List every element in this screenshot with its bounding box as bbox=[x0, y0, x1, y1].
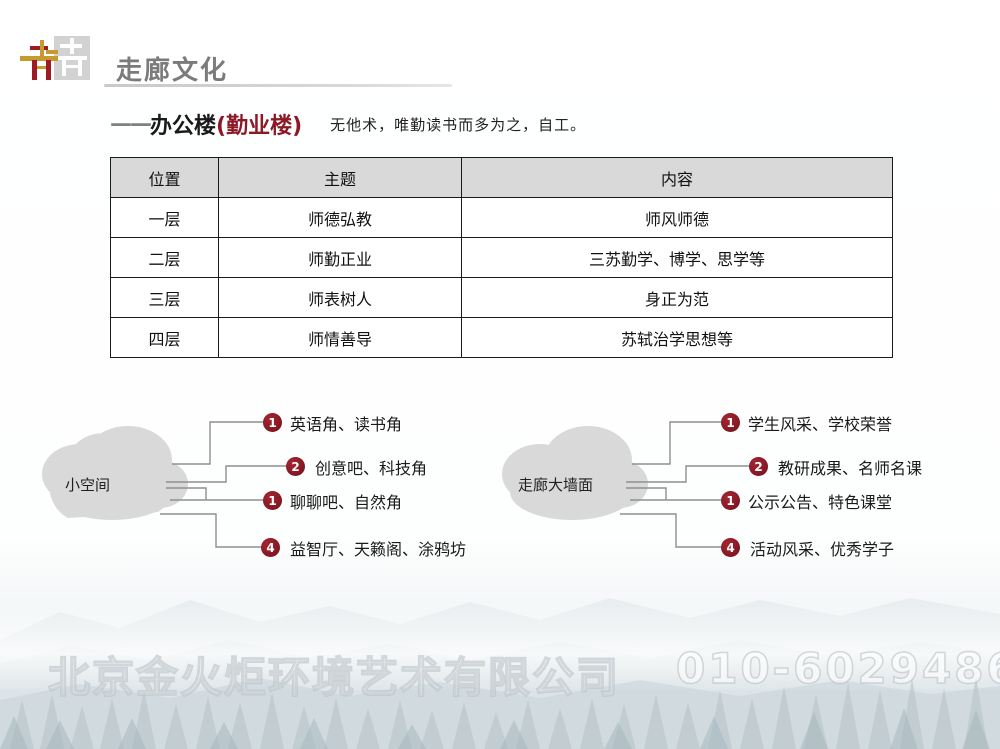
column-header-content: 内容 bbox=[462, 158, 893, 198]
branch-badge: 2 bbox=[749, 457, 768, 476]
table-row: 四层 师情善导 苏轼治学思想等 bbox=[111, 318, 893, 358]
subtitle-paren: (勤业楼) bbox=[216, 114, 302, 139]
diagram-corridor-wall: 走廊大墙面 1 学生风采、学校荣誉 2 教研成果、名师名课 1 公示公告、特色课… bbox=[480, 392, 980, 572]
cell-content: 身正为范 bbox=[462, 278, 893, 318]
seal-character-logo-icon bbox=[16, 34, 106, 92]
branch-label: 公示公告、特色课堂 bbox=[748, 489, 892, 513]
corridor-culture-table: 位置 主题 内容 一层 师德弘教 师风师德 二层 师勤正业 三苏勤学、博学、思学… bbox=[110, 157, 893, 358]
branch-label: 益智厅、天籁阁、涂鸦坊 bbox=[290, 536, 466, 560]
cell-content: 三苏勤学、博学、思学等 bbox=[462, 238, 893, 278]
column-header-position: 位置 bbox=[111, 158, 219, 198]
branch-badge: 4 bbox=[261, 538, 280, 557]
table-row: 二层 师勤正业 三苏勤学、博学、思学等 bbox=[111, 238, 893, 278]
branch-badge: 1 bbox=[721, 413, 740, 432]
watermark: 北京金火炬环境艺术有限公司 010-60294863 bbox=[0, 640, 1000, 720]
branch-label: 创意吧、科技角 bbox=[315, 455, 427, 479]
subtitle-main: 办公楼 bbox=[150, 114, 216, 139]
branch-label: 教研成果、名师名课 bbox=[778, 455, 922, 479]
cloud-shape-icon bbox=[502, 426, 648, 520]
subtitle-quote: 无他术，唯勤读书而多为之，自工。 bbox=[330, 116, 586, 134]
cell-content: 苏轼治学思想等 bbox=[462, 318, 893, 358]
cell-theme: 师表树人 bbox=[219, 278, 462, 318]
cell-position: 二层 bbox=[111, 238, 219, 278]
subtitle-dash: —— bbox=[110, 112, 150, 137]
cloud-label: 走廊大墙面 bbox=[518, 474, 593, 495]
table-header-row: 位置 主题 内容 bbox=[111, 158, 893, 198]
page-header: 走廊文化 bbox=[0, 0, 1000, 100]
cell-position: 一层 bbox=[111, 198, 219, 238]
table-row: 三层 师表树人 身正为范 bbox=[111, 278, 893, 318]
page-title: 走廊文化 bbox=[116, 50, 228, 87]
branch-label: 学生风采、学校荣誉 bbox=[748, 411, 892, 435]
cloud-label: 小空间 bbox=[65, 474, 110, 495]
column-header-theme: 主题 bbox=[219, 158, 462, 198]
cell-position: 三层 bbox=[111, 278, 219, 318]
branch-label: 英语角、读书角 bbox=[290, 411, 402, 435]
cell-theme: 师勤正业 bbox=[219, 238, 462, 278]
cell-content: 师风师德 bbox=[462, 198, 893, 238]
cell-theme: 师情善导 bbox=[219, 318, 462, 358]
branch-badge: 1 bbox=[721, 491, 740, 510]
branch-label: 聊聊吧、自然角 bbox=[290, 489, 402, 513]
table-row: 一层 师德弘教 师风师德 bbox=[111, 198, 893, 238]
branch-badge: 1 bbox=[263, 491, 282, 510]
branch-badge: 2 bbox=[286, 457, 305, 476]
section-subtitle: ——办公楼(勤业楼)无他术，唯勤读书而多为之，自工。 bbox=[110, 108, 586, 140]
branch-label: 活动风采、优秀学子 bbox=[750, 536, 894, 560]
cell-theme: 师德弘教 bbox=[219, 198, 462, 238]
branch-badge: 1 bbox=[263, 413, 282, 432]
watermark-phone: 010-60294863 bbox=[676, 644, 1000, 693]
cell-position: 四层 bbox=[111, 318, 219, 358]
cloud-shape-icon bbox=[42, 426, 188, 520]
branch-badge: 4 bbox=[721, 538, 740, 557]
watermark-company: 北京金火炬环境艺术有限公司 bbox=[48, 644, 620, 705]
diagram-small-spaces: 小空间 1 英语角、读书角 2 创意吧、科技角 1 聊聊吧、自然角 4 益智厅、… bbox=[20, 392, 490, 572]
